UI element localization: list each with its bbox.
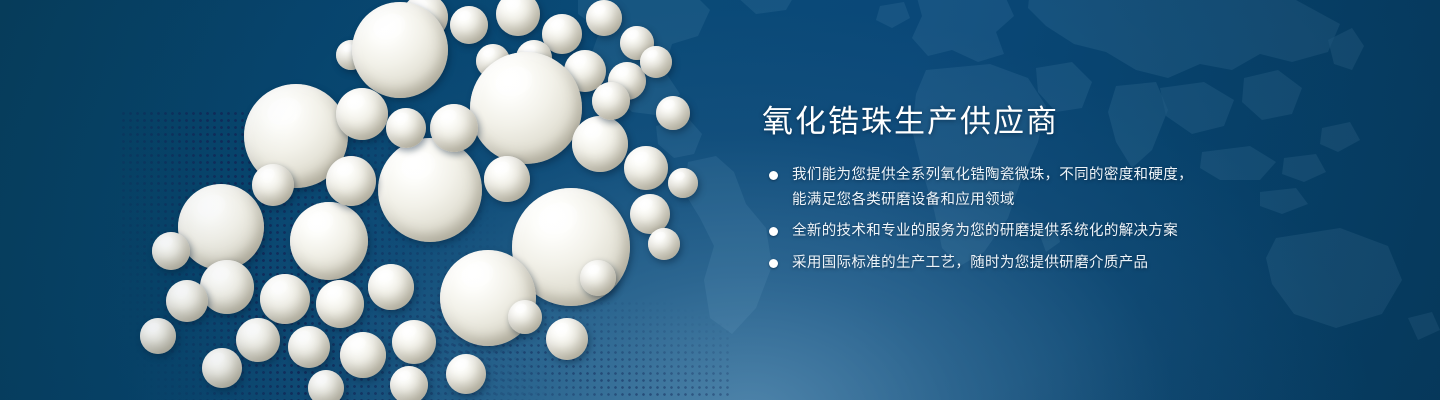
banner-headline: 氧化锆珠生产供应商 bbox=[762, 104, 1402, 141]
bullet-line-1: 采用国际标准的生产工艺，随时为您提供研磨介质产品 bbox=[792, 255, 1148, 271]
bullet-dot-icon bbox=[769, 259, 778, 268]
bullet-text: 采用国际标准的生产工艺，随时为您提供研磨介质产品 bbox=[792, 251, 1402, 276]
bullet-text: 全新的技术和专业的服务为您的研磨提供系统化的解决方案 bbox=[792, 219, 1402, 244]
bullet-line-1: 我们能为您提供全系列氧化锆陶瓷微珠，不同的密度和硬度， bbox=[792, 167, 1193, 183]
bullet-line-1: 全新的技术和专业的服务为您的研磨提供系统化的解决方案 bbox=[792, 223, 1178, 239]
list-item: 采用国际标准的生产工艺，随时为您提供研磨介质产品 bbox=[762, 251, 1402, 276]
promo-banner: 氧化锆珠生产供应商 我们能为您提供全系列氧化锆陶瓷微珠，不同的密度和硬度， 能满… bbox=[0, 0, 1440, 400]
banner-copy-block: 氧化锆珠生产供应商 我们能为您提供全系列氧化锆陶瓷微珠，不同的密度和硬度， 能满… bbox=[762, 104, 1402, 276]
list-item: 全新的技术和专业的服务为您的研磨提供系统化的解决方案 bbox=[762, 219, 1402, 244]
bullet-dot-icon bbox=[769, 227, 778, 236]
list-item: 我们能为您提供全系列氧化锆陶瓷微珠，不同的密度和硬度， 能满足您各类研磨设备和应… bbox=[762, 163, 1402, 213]
feature-bullet-list: 我们能为您提供全系列氧化锆陶瓷微珠，不同的密度和硬度， 能满足您各类研磨设备和应… bbox=[762, 163, 1402, 277]
bullet-line-2: 能满足您各类研磨设备和应用领域 bbox=[792, 188, 1402, 213]
bullet-text: 我们能为您提供全系列氧化锆陶瓷微珠，不同的密度和硬度， 能满足您各类研磨设备和应… bbox=[792, 163, 1402, 213]
bullet-dot-icon bbox=[769, 171, 778, 180]
